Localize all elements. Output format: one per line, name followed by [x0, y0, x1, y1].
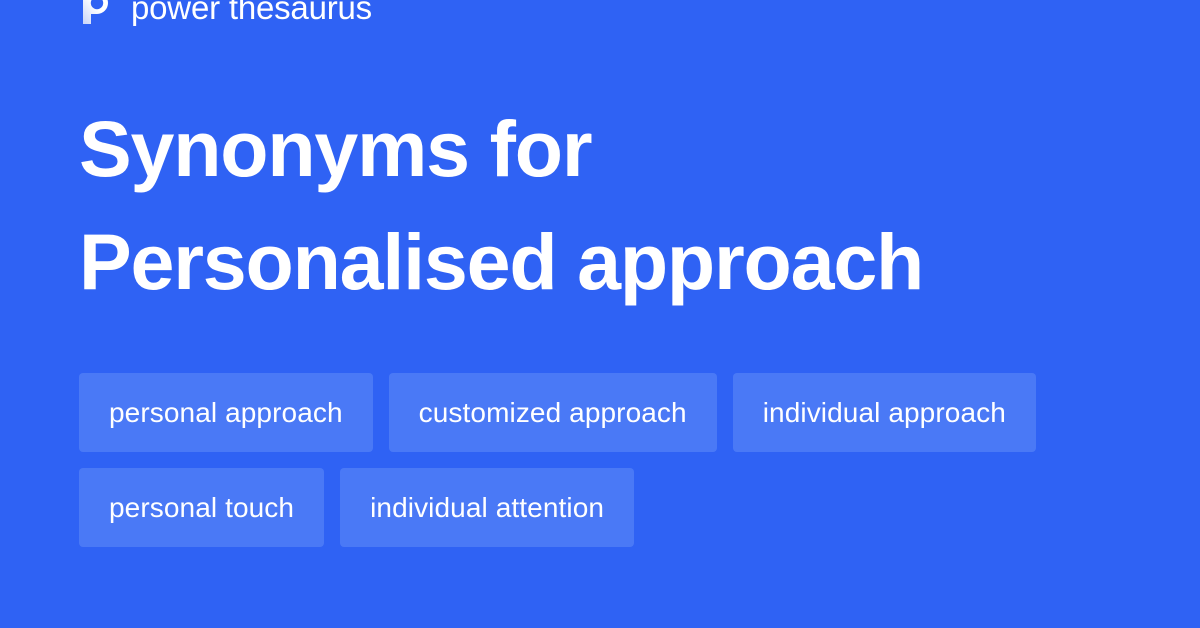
synonym-chip[interactable]: individual approach	[733, 373, 1036, 452]
synonym-list: personal approach customized approach in…	[79, 373, 1139, 547]
page-title: Synonyms for Personalised approach	[79, 92, 1079, 318]
synonym-chip[interactable]: personal touch	[79, 468, 324, 547]
brand-logo[interactable]: power thesaurus	[79, 0, 372, 30]
synonym-chip[interactable]: personal approach	[79, 373, 373, 452]
power-thesaurus-p-icon	[79, 0, 115, 26]
synonym-chip[interactable]: customized approach	[389, 373, 717, 452]
brand-name: power thesaurus	[131, 0, 372, 27]
page-title-line-1: Synonyms for	[79, 92, 1079, 205]
synonym-chip[interactable]: individual attention	[340, 468, 634, 547]
page-title-line-2: Personalised approach	[79, 205, 1079, 318]
